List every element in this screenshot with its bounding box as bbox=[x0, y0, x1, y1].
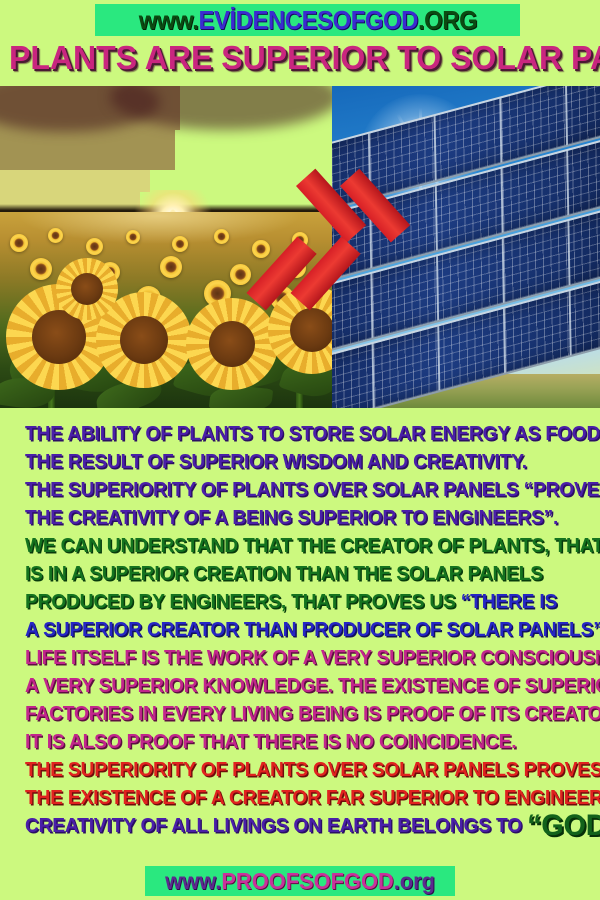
sunflower-bloom bbox=[48, 228, 63, 243]
line-seg: A SUPERIOR CREATOR THAN PRODUCER OF SOLA… bbox=[25, 619, 600, 641]
body-line-2: THE RESULT OF SUPERIOR WISDOM AND CREATI… bbox=[0, 448, 576, 476]
red-chevron-arrow-icon bbox=[296, 186, 416, 316]
bottom-url-domain: PROOFSOFGOD bbox=[221, 868, 393, 894]
bottom-url-prefix: www. bbox=[165, 868, 221, 894]
line-seg: THE CREATIVITY OF A BEING SUPERIOR TO EN… bbox=[25, 507, 558, 529]
line-seg: THE SUPERIORITY OF PLANTS OVER SOLAR PAN… bbox=[25, 479, 600, 501]
sunflower-field-photo bbox=[0, 86, 332, 408]
body-line-1: THE ABILITY OF PLANTS TO STORE SOLAR ENE… bbox=[0, 420, 576, 448]
line-seg: THE EXISTENCE OF A CREATOR FAR SUPERIOR … bbox=[25, 787, 600, 809]
sunflower-bloom bbox=[126, 230, 140, 244]
line-seg: LIFE ITSELF IS THE WORK OF A VERY SUPERI… bbox=[25, 647, 600, 669]
body-line-13: THE SUPERIORITY OF PLANTS OVER SOLAR PAN… bbox=[0, 756, 576, 784]
sunflower-bloom bbox=[10, 234, 28, 252]
top-url-prefix: www. bbox=[138, 5, 198, 35]
sunflower-bloom bbox=[86, 238, 103, 255]
line-seg: IS IN A SUPERIOR CREATION THAN THE SOLAR… bbox=[25, 563, 543, 585]
line-seg: CREATIVITY OF ALL LIVINGS ON EARTH BELON… bbox=[25, 815, 527, 837]
line-seg: A VERY SUPERIOR KNOWLEDGE. THE EXISTENCE… bbox=[25, 675, 600, 697]
sunflower-bloom bbox=[160, 256, 182, 278]
body-line-10: A VERY SUPERIOR KNOWLEDGE. THE EXISTENCE… bbox=[0, 672, 576, 700]
sunflower-core bbox=[120, 316, 168, 364]
top-url-tld: .ORG bbox=[417, 5, 476, 35]
poster-title: PLANTS ARE SUPERIOR TO SOLAR PANELS bbox=[9, 40, 591, 76]
bottom-website-banner[interactable]: www.PROOFSOFGOD.org bbox=[145, 866, 455, 896]
body-line-8: A SUPERIOR CREATOR THAN PRODUCER OF SOLA… bbox=[0, 616, 576, 644]
line-seg: THE ABILITY OF PLANTS TO STORE SOLAR ENE… bbox=[25, 423, 600, 445]
top-website-banner[interactable]: www.EVİDENCESOFGOD.ORG bbox=[95, 4, 520, 36]
body-line-15: CREATIVITY OF ALL LIVINGS ON EARTH BELON… bbox=[0, 812, 576, 840]
poster-root: www.EVİDENCESOFGOD.ORG PLANTS ARE SUPERI… bbox=[0, 0, 600, 900]
body-line-14: THE EXISTENCE OF A CREATOR FAR SUPERIOR … bbox=[0, 784, 576, 812]
body-line-11: FACTORIES IN EVERY LIVING BEING IS PROOF… bbox=[0, 700, 576, 728]
bottom-url-tld: .org bbox=[394, 868, 435, 894]
top-website-url: www.EVİDENCESOFGOD.ORG bbox=[138, 7, 477, 33]
top-url-domain: EVİDENCESOFGOD bbox=[198, 5, 418, 35]
sunflower-bloom bbox=[230, 264, 251, 285]
line-seg: THE RESULT OF SUPERIOR WISDOM AND CREATI… bbox=[25, 451, 527, 473]
sunflower-bloom bbox=[252, 240, 270, 258]
body-line-7: PRODUCED BY ENGINEERS, THAT PROVES US “T… bbox=[0, 588, 576, 616]
body-line-5: WE CAN UNDERSTAND THAT THE CREATOR OF PL… bbox=[0, 532, 576, 560]
sunflower-core bbox=[71, 273, 103, 305]
sunflower-bloom bbox=[172, 236, 188, 252]
sunflower-bloom bbox=[214, 229, 229, 244]
god-word: “GOD” bbox=[527, 809, 600, 842]
photo-strip bbox=[0, 86, 600, 408]
line-seg: “THERE IS bbox=[461, 591, 557, 613]
line-seg: IT IS ALSO PROOF THAT THERE IS NO COINCI… bbox=[25, 731, 516, 753]
body-line-6: IS IN A SUPERIOR CREATION THAN THE SOLAR… bbox=[0, 560, 576, 588]
body-text-block: THE ABILITY OF PLANTS TO STORE SOLAR ENE… bbox=[0, 412, 600, 860]
line-seg: FACTORIES IN EVERY LIVING BEING IS PROOF… bbox=[25, 703, 600, 725]
body-line-3: THE SUPERIORITY OF PLANTS OVER SOLAR PAN… bbox=[0, 476, 576, 504]
line-seg: WE CAN UNDERSTAND THAT THE CREATOR OF PL… bbox=[25, 535, 600, 557]
line-seg: PRODUCED BY ENGINEERS, THAT PROVES US bbox=[25, 591, 461, 613]
sunflower-core bbox=[209, 321, 255, 367]
body-line-12: IT IS ALSO PROOF THAT THERE IS NO COINCI… bbox=[0, 728, 576, 756]
body-line-4: THE CREATIVITY OF A BEING SUPERIOR TO EN… bbox=[0, 504, 576, 532]
body-line-9: LIFE ITSELF IS THE WORK OF A VERY SUPERI… bbox=[0, 644, 576, 672]
line-seg: THE SUPERIORITY OF PLANTS OVER SOLAR PAN… bbox=[25, 759, 600, 781]
chevron-2 bbox=[340, 186, 414, 316]
sunflower-bloom bbox=[30, 258, 52, 280]
bottom-website-url: www.PROOFSOFGOD.org bbox=[165, 870, 435, 893]
